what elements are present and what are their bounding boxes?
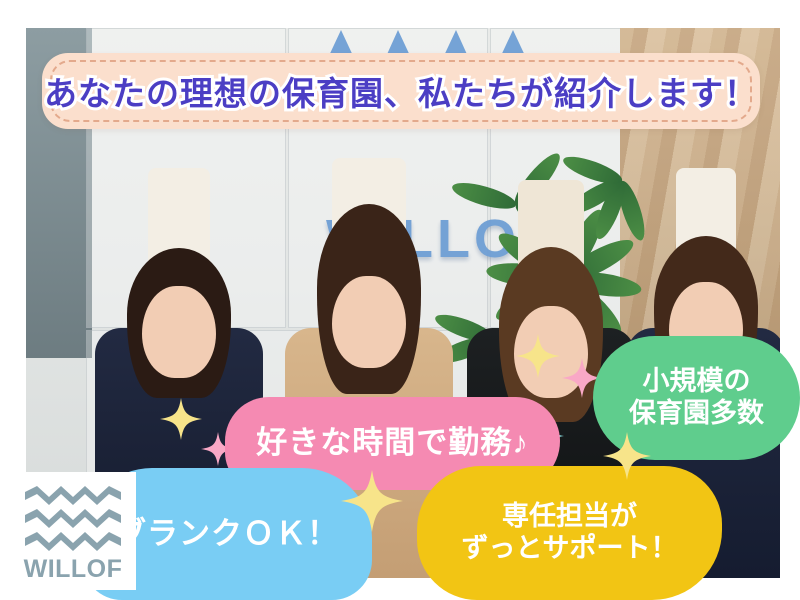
- willof-zigzag-icon: [25, 486, 121, 552]
- bubble-blue-text: ブランクＯＫ！: [115, 516, 339, 553]
- bubble-green-line1: 小規模の: [643, 366, 751, 396]
- willof-wordmark: WILLOF: [10, 555, 136, 584]
- face: [332, 276, 406, 368]
- sparkle-yellow-4-icon: [603, 432, 651, 480]
- bubble-yellow-line1: 専任担当が: [502, 501, 637, 531]
- face: [142, 286, 216, 378]
- bubble-yellow-line2: ずっとサポート！: [462, 533, 678, 565]
- willof-logo: WILLOF: [10, 472, 136, 590]
- bubble-dedicated-support: 専任担当が ずっとサポート！: [417, 466, 722, 600]
- bubble-pink-text: 好きな時間で勤務♪: [256, 425, 529, 462]
- poster-canvas: WILLOF: [0, 0, 800, 600]
- headline-text: あなたの理想の保育園、私たちが紹介します！: [42, 53, 760, 129]
- sparkle-yellow-3-icon: [516, 334, 560, 378]
- sparkle-yellow-1-icon: [160, 398, 202, 440]
- headline-banner: あなたの理想の保育園、私たちが紹介します！: [42, 53, 760, 129]
- bubble-green-line2: 保育園多数: [629, 398, 764, 430]
- sparkle-yellow-2-icon: [341, 470, 403, 532]
